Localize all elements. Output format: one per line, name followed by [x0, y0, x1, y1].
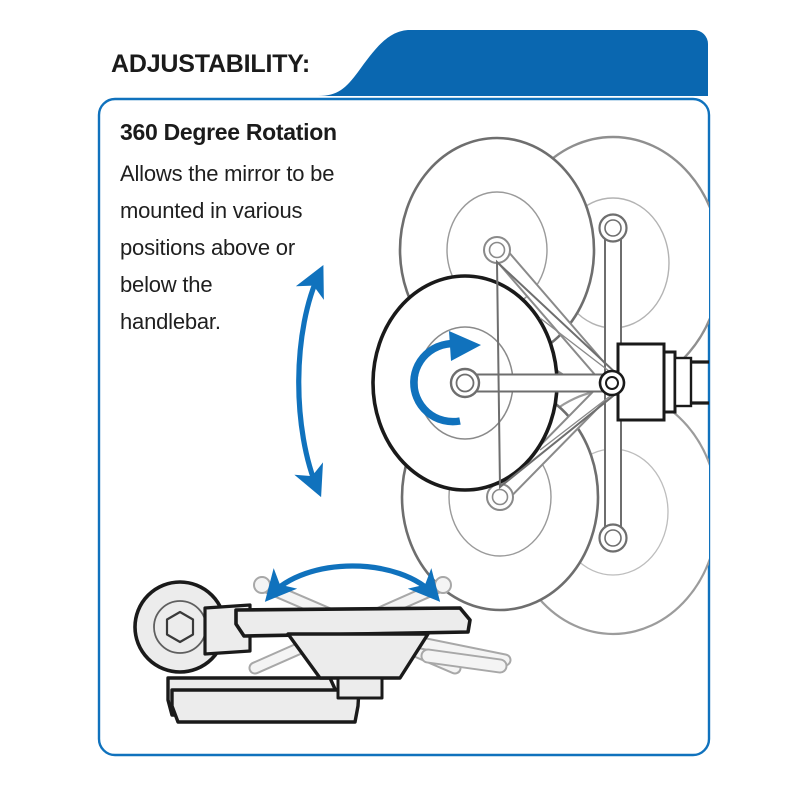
page-title: ADJUSTABILITY: — [111, 48, 310, 80]
header-banner — [318, 30, 708, 96]
pivot-bolt — [600, 371, 624, 395]
feature-description-line-2: mounted in various — [120, 192, 410, 229]
ghost-arm-stub — [428, 656, 500, 666]
feature-description-line-4: below the — [120, 266, 410, 303]
banner-swoosh-shape — [318, 30, 708, 96]
mirror-back-plate — [236, 608, 470, 636]
infographic-card: ADJUSTABILITY: 360 Degree Rotation Allow… — [0, 0, 800, 800]
feature-description-line-1: Allows the mirror to be — [120, 155, 410, 192]
feature-description-line-5: handlebar. — [120, 303, 410, 340]
feature-description-line-3: positions above or — [120, 229, 410, 266]
feature-heading: 360 Degree Rotation — [120, 117, 337, 147]
feature-description: Allows the mirror to be mounted in vario… — [120, 155, 410, 340]
